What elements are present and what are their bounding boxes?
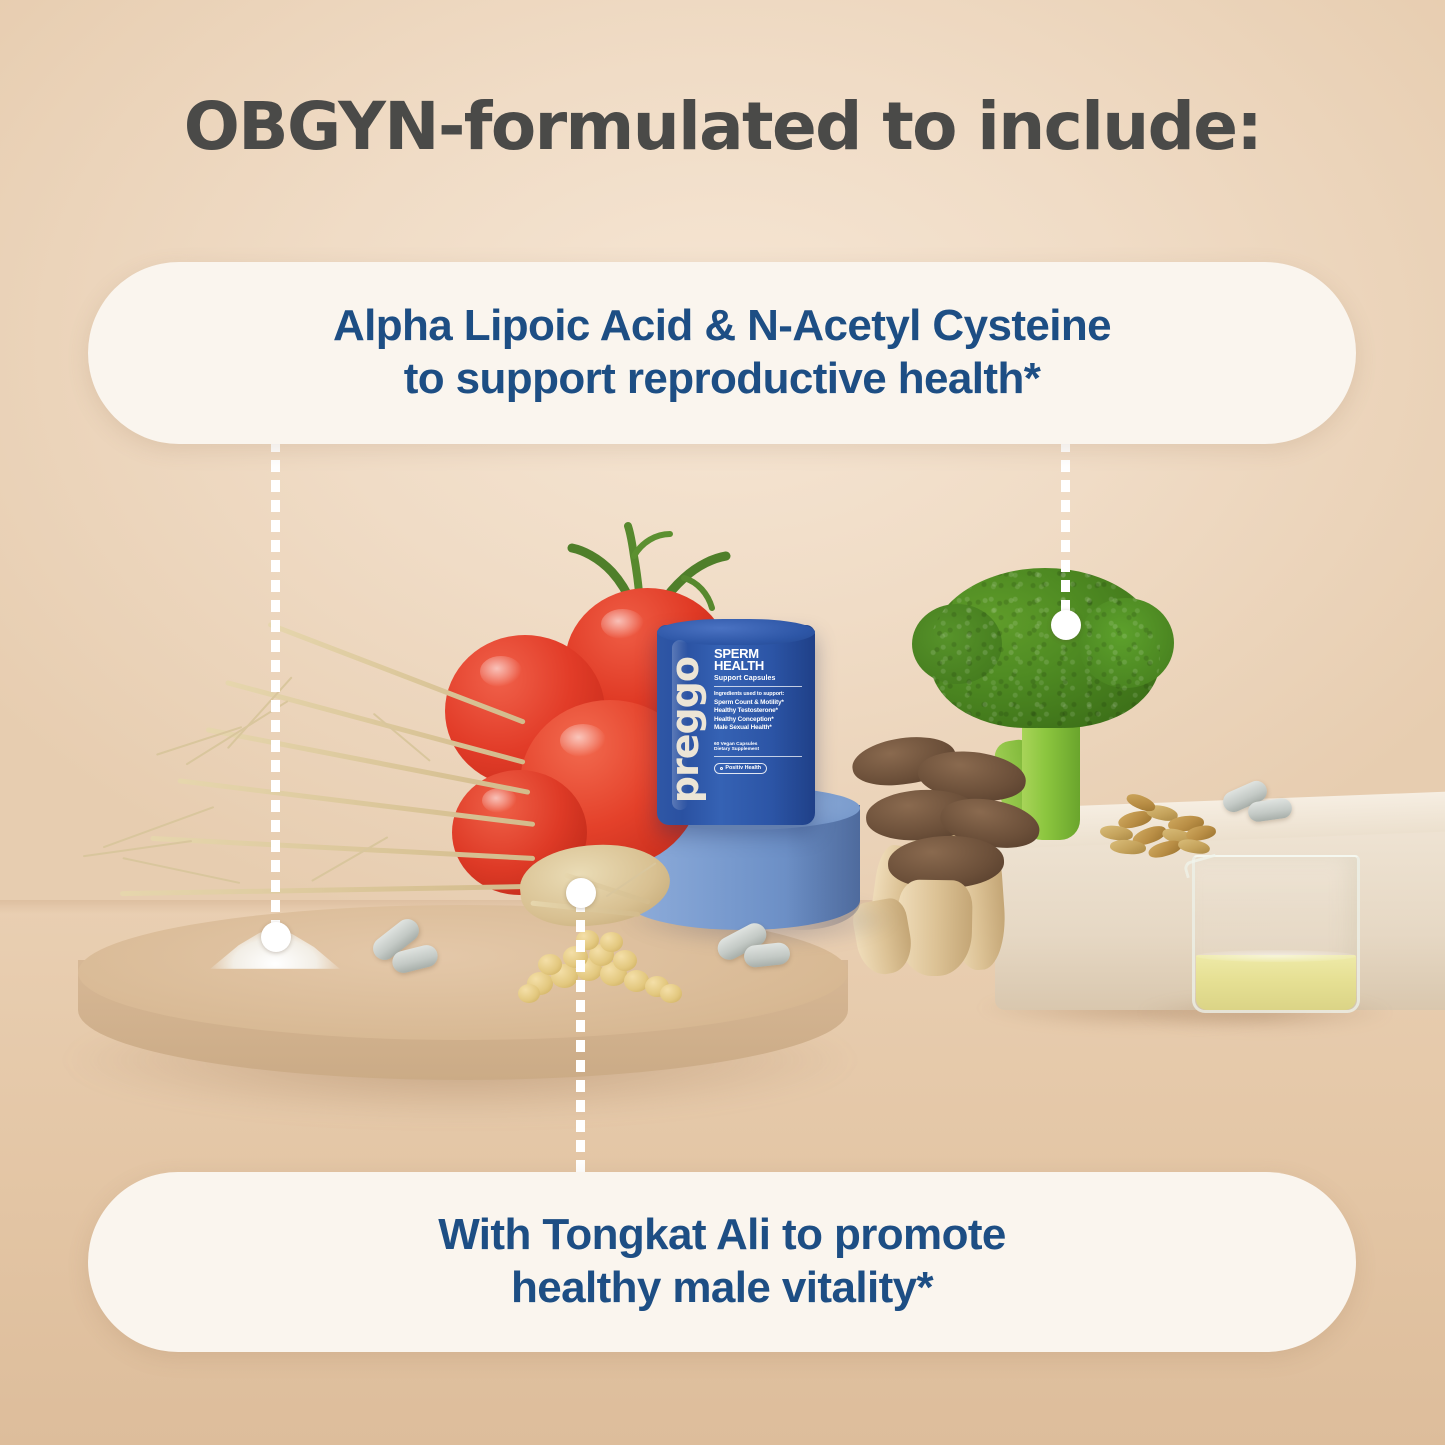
jar-title-line2: HEALTH xyxy=(714,660,805,672)
brand-name: preggo xyxy=(663,657,707,803)
connector-node-broccoli xyxy=(1051,610,1081,640)
jar-divider-top xyxy=(714,686,802,687)
jar-subtitle: Support Capsules xyxy=(714,675,805,682)
connector-line-right xyxy=(1061,440,1070,632)
page-title: OBGYN-formulated to include: xyxy=(0,88,1445,165)
callout-text-alpha-lipoic: Alpha Lipoic Acid & N-Acetyl Cysteine to… xyxy=(285,300,1159,406)
callout-card-tongkat-ali[interactable]: With Tongkat Ali to promote healthy male… xyxy=(88,1172,1356,1352)
connector-node-root xyxy=(566,878,596,908)
oil-liquid xyxy=(1196,955,1356,1010)
broccoli-texture xyxy=(930,568,1160,728)
callout-tongkat-line1: With Tongkat Ali to promote xyxy=(438,1210,1006,1259)
callout-tongkat-line2: healthy male vitality* xyxy=(511,1263,933,1312)
connector-line-bottom xyxy=(576,900,585,1178)
callout-text-tongkat-ali: With Tongkat Ali to promote healthy male… xyxy=(390,1209,1054,1315)
connector-node-powder xyxy=(261,922,291,952)
jar-benefits-lead: Ingredients used to support: xyxy=(714,691,805,697)
jar-category: Dietary Supplement xyxy=(714,747,805,753)
company-badge-label: Positiv Health xyxy=(725,765,761,771)
jar-benefit-0: Sperm Count & Motility* xyxy=(714,699,805,707)
jar-brand-wordmark: preggo xyxy=(657,640,713,820)
positiv-circle-icon xyxy=(720,767,723,770)
jar-label: SPERM HEALTH Support Capsules Ingredient… xyxy=(714,644,810,820)
callout-alpha-line2: to support reproductive health* xyxy=(404,354,1041,403)
jar-footer: 60 Vegan Capsules Dietary Supplement xyxy=(714,742,805,754)
jar-benefit-1: Healthy Testosterone* xyxy=(714,707,805,715)
jar-benefit-3: Male Sexual Health* xyxy=(714,724,805,732)
callout-alpha-line1: Alpha Lipoic Acid & N-Acetyl Cysteine xyxy=(333,301,1111,350)
jar-divider-bottom xyxy=(714,756,802,757)
connector-line-left xyxy=(271,440,280,940)
jar-benefit-2: Healthy Conception* xyxy=(714,716,805,724)
jar-benefits-list: Sperm Count & Motility* Healthy Testoste… xyxy=(714,699,805,733)
company-badge: Positiv Health xyxy=(714,763,767,774)
callout-card-alpha-lipoic[interactable]: Alpha Lipoic Acid & N-Acetyl Cysteine to… xyxy=(88,262,1356,444)
